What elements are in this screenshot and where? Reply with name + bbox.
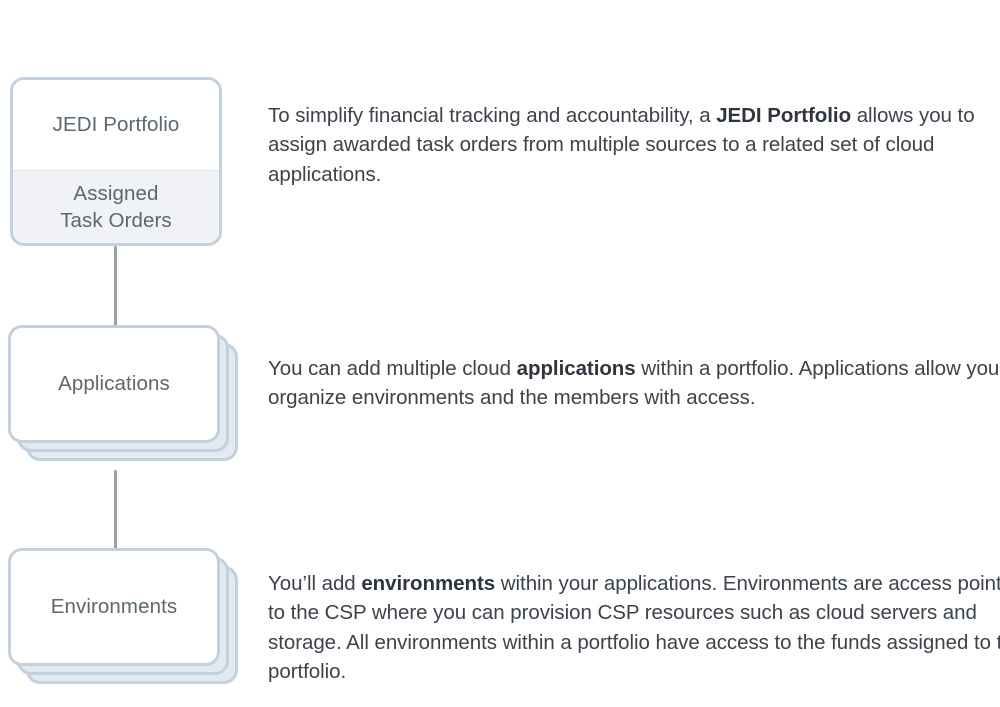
description-emphasis-jedi-portfolio: JEDI Portfolio bbox=[716, 104, 851, 127]
description-applications: You can add multiple cloud applications … bbox=[268, 354, 1000, 413]
node-environments[interactable]: Environments bbox=[8, 548, 240, 696]
description-emphasis-applications: applications bbox=[517, 357, 636, 380]
card-label-environments: Environments bbox=[11, 551, 217, 663]
card-applications[interactable]: Applications bbox=[8, 325, 220, 443]
card-sublabel-assigned-task-orders: Assigned Task Orders bbox=[13, 170, 219, 243]
connector-portfolio-to-applications bbox=[114, 246, 117, 326]
card-label-jedi-portfolio: JEDI Portfolio bbox=[13, 80, 219, 170]
hierarchy-diagram: JEDI Portfolio Assigned Task Orders Appl… bbox=[0, 0, 1000, 707]
card-label-applications: Applications bbox=[11, 328, 217, 440]
node-jedi-portfolio[interactable]: JEDI Portfolio Assigned Task Orders bbox=[10, 77, 222, 246]
card-jedi-portfolio[interactable]: JEDI Portfolio Assigned Task Orders bbox=[10, 77, 222, 246]
description-jedi-portfolio: To simplify financial tracking and accou… bbox=[268, 101, 1000, 190]
card-environments[interactable]: Environments bbox=[8, 548, 220, 666]
connector-applications-to-environments bbox=[114, 470, 117, 550]
description-lead-text: To simplify financial tracking and accou… bbox=[268, 104, 716, 127]
description-lead-text: You’ll add bbox=[268, 572, 361, 595]
description-emphasis-environments: environments bbox=[361, 572, 495, 595]
description-lead-text: You can add multiple cloud bbox=[268, 357, 517, 380]
description-environments: You’ll add environments within your appl… bbox=[268, 569, 1000, 687]
node-applications[interactable]: Applications bbox=[8, 325, 240, 473]
